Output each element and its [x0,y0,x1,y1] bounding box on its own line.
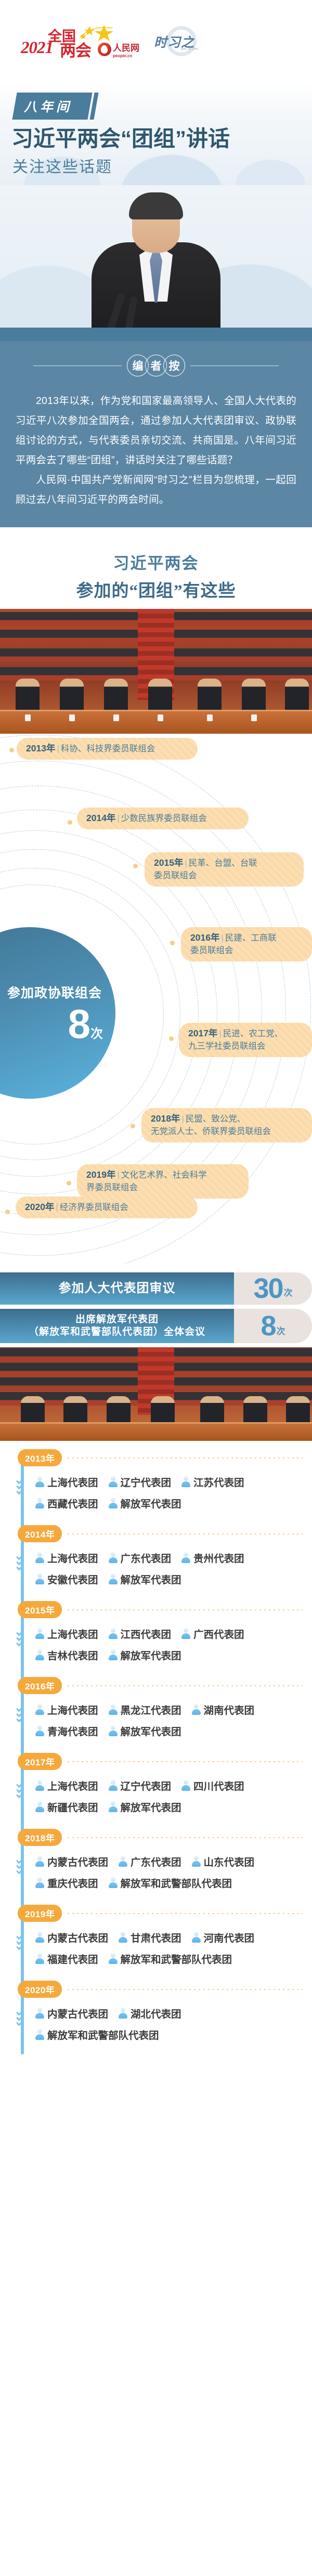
chevron-down-icon [17,1706,23,1721]
editor-note-paragraph: 2013年以来，作为党和国家最高领导人、全国人大代表的习近平八次参加全国两会，通… [16,391,296,470]
delegation-item: 上海代表团 [35,1778,98,1793]
person-avatar-icon [35,1801,44,1812]
people-cn-name: 人民网 [113,41,139,54]
cppcc-item-2015: 2015年|民革、台盟、台联委员联组会 [145,852,304,887]
cppcc-heading-line1: 习近平两会 [0,550,312,574]
delegation-item: 辽宁代表团 [109,1778,172,1793]
timeline-year-items: 内蒙古代表团广东代表团山东代表团重庆代表团解放军和武警部队代表团 [0,1846,312,1905]
delegation-name: 安徽代表团 [47,1571,98,1586]
timeline-dotted-rule [66,1989,303,1990]
timeline-year-items: 上海代表团广东代表团贵州代表团安徽代表团解放军代表团 [0,1543,312,1601]
person-avatar-icon [35,1932,44,1942]
timeline-dotted-rule [66,1533,303,1534]
npc-pla-count-number: 8 [261,1310,275,1342]
divider-left [33,366,122,366]
timeline-year-pill: 2013年 [18,1449,62,1466]
eight-years-badge: 八年间 [12,93,92,120]
delegation-item: 福建代表团 [35,1951,98,1966]
editor-note-char: 按 [163,355,185,376]
timeline-dotted-rule [66,1837,303,1838]
chevron-down-icon [17,1554,23,1569]
person-avatar-icon [109,1628,118,1638]
timeline-row: 安徽代表团解放军代表团 [35,1571,312,1586]
person-avatar-icon [35,1573,44,1584]
npc-banner-pla-count: 8 次 [234,1309,312,1343]
timeline-year-header: 2017年 [0,1753,312,1771]
timeline-row: 西藏代表团解放军代表团 [35,1495,312,1511]
timeline-year-header: 2015年 [0,1601,312,1619]
person-avatar-icon [35,1856,44,1866]
editor-note-body: 2013年以来，作为党和国家最高领导人、全国人大代表的习近平八次参加全国两会，通… [0,391,312,510]
npc-banner-review-count: 30 次 [234,1272,312,1305]
delegation-item: 西藏代表团 [35,1495,98,1511]
npc-review-count-number: 30 [253,1272,282,1305]
npc-pla-count-unit: 次 [277,1324,285,1337]
chevron-down-icon [17,1478,23,1493]
delegation-name: 新疆代表团 [47,1799,98,1814]
delegation-item: 甘肃代表团 [119,1930,181,1945]
delegation-name: 贵州代表团 [193,1550,244,1565]
cppcc-item-text: 科协、科技界委员联组会 [61,744,155,753]
delegation-name: 青海代表团 [47,1723,98,1738]
delegation-item: 解放军代表团 [109,1799,181,1814]
delegation-name: 河南代表团 [204,1930,255,1945]
delegation-name: 解放军代表团 [121,1647,181,1662]
npc-banner-pla: 出席解放军代表团（解放军和武警部队代表团）全体会议 8 次 [0,1309,312,1343]
delegation-item: 重庆代表团 [35,1875,98,1890]
delegation-item: 解放军代表团 [109,1495,181,1511]
delegation-name: 内蒙古代表团 [47,1930,108,1945]
timeline-year-header: 2020年 [0,1981,312,1998]
npc-banner-pla-label: 出席解放军代表团（解放军和武警部队代表团）全体会议 [0,1309,234,1343]
timeline-dotted-rule [66,1685,303,1686]
timeline-dotted-rule [66,1761,303,1762]
timeline-row: 内蒙古代表团广东代表团山东代表团 [35,1854,312,1869]
person-avatar-icon [192,1932,201,1942]
delegation-item: 上海代表团 [35,1474,98,1489]
timeline-year-pill: 2014年 [18,1525,62,1542]
timeline-year-header: 2014年 [0,1525,312,1543]
cppcc-item-text: 少数民族界委员联组会 [121,814,207,823]
delegation-item: 湖北代表团 [119,2006,181,2021]
cppcc-item-2018: 2018年|民盟、致公党、无党派人士、侨联界委员联组会 [141,1108,312,1142]
person-avatar-icon [109,1953,118,1963]
timeline-year-block: 2017年上海代表团辽宁代表团四川代表团新疆代表团解放军代表团 [0,1753,312,1829]
timeline-year-block: 2016年上海代表团黑龙江代表团湖南代表团青海代表团解放军代表团 [0,1677,312,1753]
delegation-name: 解放军代表团 [121,1723,181,1738]
delegation-item: 解放军代表团 [109,1647,181,1662]
timeline-year-header: 2018年 [0,1829,312,1846]
delegation-name: 吉林代表团 [47,1647,98,1662]
divider-right [190,366,279,366]
person-avatar-icon [181,1628,190,1638]
cppcc-item-2013: 2013年|科协、科技界委员联组会 [17,738,198,760]
delegation-name: 解放军代表团 [121,1799,181,1814]
editor-note: 编 者 按 2013年以来，作为党和国家最高领导人、全国人大代表的习近平八次参加… [0,341,312,527]
delegation-item: 吉林代表团 [35,1647,98,1662]
delegation-item: 解放军代表团 [109,1571,181,1586]
person-avatar-icon [35,2029,44,2039]
person-avatar-icon [119,2008,127,2018]
delegation-name: 江西代表团 [121,1626,172,1641]
cppcc-heading-line2: 参加的“团组”有这些 [0,577,312,602]
cppcc-orbit-diagram: 参加政协联组会 8次 2013年|科协、科技界委员联组会 2014年|少数民族界… [0,734,312,1264]
timeline-year-pill: 2019年 [18,1905,62,1922]
delegation-item: 解放军和武警部队代表团 [109,1951,232,1966]
delegation-name: 上海代表团 [47,1702,98,1717]
timeline-year-block: 2020年内蒙古代表团湖北代表团解放军和武警部队代表团 [0,1981,312,2057]
timeline-year-pill: 2015年 [18,1601,62,1618]
chevron-down-icon [17,2010,23,2024]
delegation-name: 上海代表团 [47,1474,98,1489]
person-avatar-icon [181,1476,190,1487]
delegation-name: 湖北代表团 [131,2006,181,2021]
delegation-name: 湖南代表团 [204,1702,255,1717]
delegation-item: 解放军和武警部队代表团 [109,1875,232,1890]
hero-photo-person [88,194,224,341]
person-avatar-icon [35,1704,44,1714]
delegation-item: 上海代表团 [35,1550,98,1565]
people-cn-domain: people.cn [113,54,139,58]
delegation-name: 上海代表团 [47,1626,98,1641]
npc-photo-table [0,1422,312,1441]
timeline-year-pill: 2017年 [18,1753,62,1770]
delegation-item: 解放军代表团 [109,1723,181,1738]
timeline-row: 内蒙古代表团甘肃代表团河南代表团 [35,1930,312,1945]
delegation-name: 辽宁代表团 [121,1778,172,1793]
delegation-item: 上海代表团 [35,1702,98,1717]
delegation-name: 内蒙古代表团 [47,1854,108,1869]
cppcc-item-2020: 2020年|经济界委员联组会 [16,1196,198,1218]
delegation-item: 广东代表团 [109,1550,172,1565]
person-avatar-icon [35,1498,44,1508]
delegation-name: 广东代表团 [121,1550,172,1565]
person-avatar-icon [119,1932,127,1942]
hero-photo-desk [0,328,312,341]
person-avatar-icon [35,1628,44,1638]
delegation-name: 广西代表团 [193,1626,244,1641]
delegation-name: 黑龙江代表团 [121,1702,181,1717]
cppcc-item-2014: 2014年|少数民族界委员联组会 [77,808,249,829]
timeline-row: 上海代表团广东代表团贵州代表团 [35,1550,312,1565]
timeline-year-header: 2016年 [0,1677,312,1695]
person-avatar-icon [192,1704,201,1714]
cppcc-item-2016: 2016年|民建、工商联委员联组会 [181,927,312,961]
person-avatar-icon [109,1476,118,1487]
people-cn-ball-icon [98,43,111,56]
eight-years-badge-label: 八年间 [24,97,72,115]
page-title: 习近平两会“团组”讲话 [11,127,312,151]
timeline-year-block: 2019年内蒙古代表团甘肃代表团河南代表团福建代表团解放军和武警部队代表团 [0,1905,312,1981]
delegation-name: 重庆代表团 [47,1875,98,1890]
timeline-year-pill: 2018年 [18,1829,62,1846]
person-avatar-icon [109,1877,118,1888]
timeline-year-pill: 2020年 [18,1981,62,1998]
person-avatar-icon [35,2008,44,2018]
person-avatar-icon [35,1953,44,1963]
chevron-down-icon [17,1934,23,1948]
cppcc-photo-table [0,710,312,734]
person-avatar-icon [109,1704,118,1714]
delegation-item: 安徽代表团 [35,1571,98,1586]
infographic-page: 全国 2021 两会 人民网 people.cn 时习之 SHI XI ZHI … [0,0,312,2077]
person-avatar-icon [109,1552,118,1563]
delegation-item: 四川代表团 [181,1778,244,1793]
delegation-name: 甘肃代表团 [131,1930,181,1945]
delegation-name: 广东代表团 [131,1854,181,1869]
delegation-item: 河南代表团 [192,1930,255,1945]
person-avatar-icon [181,1780,190,1790]
npc-meeting-photo [0,1347,312,1441]
npc-banners: 参加人大代表团审议 30 次 出席解放军代表团（解放军和武警部队代表团）全体会议… [0,1264,312,1343]
timeline-row: 吉林代表团解放军代表团 [35,1647,312,1662]
timeline-row: 内蒙古代表团湖北代表团 [35,2006,312,2021]
timeline-row: 福建代表团解放军和武警部队代表团 [35,1951,312,1966]
person-avatar-icon [192,1856,201,1866]
timeline-year-items: 上海代表团江西代表团广西代表团吉林代表团解放军代表团 [0,1619,312,1677]
timeline-year-items: 内蒙古代表团甘肃代表团河南代表团福建代表团解放军和武警部队代表团 [0,1922,312,1981]
person-hair [129,192,183,219]
editor-note-header: 编 者 按 [0,355,312,376]
delegation-name: 上海代表团 [47,1778,98,1793]
delegation-item: 青海代表团 [35,1723,98,1738]
npc-year-timeline: 2013年上海代表团辽宁代表团江苏代表团西藏代表团解放军代表团2014年上海代表… [0,1441,312,2077]
title-block: 八年间 习近平两会“团组”讲话 关注这些话题 [0,83,312,185]
delegation-name: 解放军代表团 [121,1495,181,1511]
npc-banner-review: 参加人大代表团审议 30 次 [0,1272,312,1305]
person-avatar-icon [35,1476,44,1487]
delegation-name: 解放军代表团 [121,1571,181,1586]
page-subtitle: 关注这些话题 [12,154,312,185]
cppcc-core-number: 8次 [68,1005,102,1043]
cppcc-item-text: 经济界委员联组会 [60,1203,128,1212]
chevron-down-icon [17,1630,23,1645]
delegation-item: 内蒙古代表团 [35,2006,108,2021]
delegation-item: 贵州代表团 [181,1550,244,1565]
shixizhi-logo: 时习之 SHI XI ZHI [152,26,209,58]
delegation-name: 解放军和武警部队代表团 [121,1875,232,1890]
npc-banner-review-label: 参加人大代表团审议 [0,1272,234,1305]
timeline-year-items: 上海代表团辽宁代表团江苏代表团西藏代表团解放军代表团 [0,1467,312,1525]
person-avatar-icon [109,1780,118,1790]
cppcc-section-heading: 习近平两会 参加的“团组”有这些 [0,527,312,609]
timeline-year-pill: 2016年 [18,1677,62,1694]
timeline-year-items: 上海代表团黑龙江代表团湖南代表团青海代表团解放军代表团 [0,1695,312,1753]
delegation-name: 解放军和武警部队代表团 [121,1951,232,1966]
cppcc-item-2019: 2019年|文化艺术界、社会科学界委员联组会 [77,1164,249,1199]
timeline-row: 重庆代表团解放军和武警部队代表团 [35,1875,312,1890]
person-avatar-icon [119,1856,127,1866]
person-avatar-icon [35,1552,44,1563]
person-avatar-icon [109,1498,118,1508]
delegation-name: 内蒙古代表团 [47,2006,108,2021]
timeline-row: 新疆代表团解放军代表团 [35,1799,312,1814]
cppcc-meeting-photo [0,609,312,734]
delegation-name: 上海代表团 [47,1550,98,1565]
lianghui-year-text: 2021 [21,38,53,58]
logo-bar: 全国 2021 两会 人民网 people.cn 时习之 SHI XI ZHI [0,0,312,83]
timeline-year-block: 2015年上海代表团江西代表团广西代表团吉林代表团解放军代表团 [0,1601,312,1677]
chevron-down-icon [17,1782,23,1797]
cppcc-item-2017: 2017年|民进、农工党、九三学社委员联组会 [179,1023,312,1057]
npc-review-count-unit: 次 [284,1285,293,1298]
shixizhi-pinyin: SHI XI ZHI [181,48,199,51]
person-avatar-icon [181,1552,190,1563]
timeline-year-block: 2018年内蒙古代表团广东代表团山东代表团重庆代表团解放军和武警部队代表团 [0,1829,312,1905]
delegation-item: 辽宁代表团 [109,1474,172,1489]
timeline-row: 上海代表团辽宁代表团江苏代表团 [35,1474,312,1489]
delegation-name: 福建代表团 [47,1951,98,1966]
timeline-year-block: 2014年上海代表团广东代表团贵州代表团安徽代表团解放军代表团 [0,1525,312,1601]
delegation-item: 上海代表团 [35,1626,98,1641]
editor-note-paragraph: 人民网·中国共产党新闻网“时习之”栏目为您梳理，一起回顾过去八年间习近平的两会时… [16,470,296,510]
timeline-dotted-rule [66,1458,303,1459]
person-avatar-icon [35,1780,44,1790]
person-avatar-icon [35,1649,44,1660]
timeline-dotted-rule [66,1913,303,1914]
delegation-item: 内蒙古代表团 [35,1854,108,1869]
editor-note-label: 编 者 按 [127,355,185,376]
timeline-year-header: 2019年 [0,1905,312,1922]
delegation-name: 江苏代表团 [193,1474,244,1489]
delegation-item: 解放军和武警部队代表团 [35,2027,159,2042]
delegation-item: 山东代表团 [192,1854,255,1869]
delegation-item: 江苏代表团 [181,1474,244,1489]
delegation-name: 辽宁代表团 [121,1474,172,1489]
cppcc-core-label: 参加政协联组会 [7,983,102,1001]
timeline-row: 青海代表团解放军代表团 [35,1723,312,1738]
people-cn-logo: 人民网 people.cn [98,41,139,58]
delegation-item: 湖南代表团 [192,1702,255,1717]
timeline-year-items: 内蒙古代表团湖北代表团解放军和武警部队代表团 [0,1998,312,2057]
timeline-row: 解放军和武警部队代表团 [35,2027,312,2042]
delegation-name: 山东代表团 [204,1854,255,1869]
delegation-item: 广西代表团 [181,1626,244,1641]
timeline-dotted-rule [66,1609,303,1610]
delegation-item: 江西代表团 [109,1626,172,1641]
person-avatar-icon [109,1725,118,1736]
lianghui-2021-logo: 全国 2021 两会 人民网 people.cn [21,27,151,60]
timeline-row: 上海代表团黑龙江代表团湖南代表团 [35,1702,312,1717]
lianghui-main-text: 两会 [60,37,91,61]
hero-photo [0,185,312,341]
timeline-year-items: 上海代表团辽宁代表团四川代表团新疆代表团解放军代表团 [0,1771,312,1829]
delegation-name: 西藏代表团 [47,1495,98,1511]
person-avatar-icon [109,1649,118,1660]
timeline-year-header: 2013年 [0,1449,312,1467]
person-avatar-icon [35,1725,44,1736]
person-avatar-icon [35,1877,44,1888]
person-avatar-icon [109,1573,118,1584]
chevron-down-icon [17,1858,23,1872]
delegation-name: 解放军和武警部队代表团 [47,2027,159,2042]
person-avatar-icon [109,1801,118,1812]
delegation-item: 黑龙江代表团 [109,1702,181,1717]
timeline-row: 上海代表团江西代表团广西代表团 [35,1626,312,1641]
delegation-item: 新疆代表团 [35,1799,98,1814]
timeline-row: 上海代表团辽宁代表团四川代表团 [35,1778,312,1793]
delegation-item: 广东代表团 [119,1854,181,1869]
delegation-name: 四川代表团 [193,1778,244,1793]
delegation-item: 内蒙古代表团 [35,1930,108,1945]
timeline-year-block: 2013年上海代表团辽宁代表团江苏代表团西藏代表团解放军代表团 [0,1449,312,1525]
